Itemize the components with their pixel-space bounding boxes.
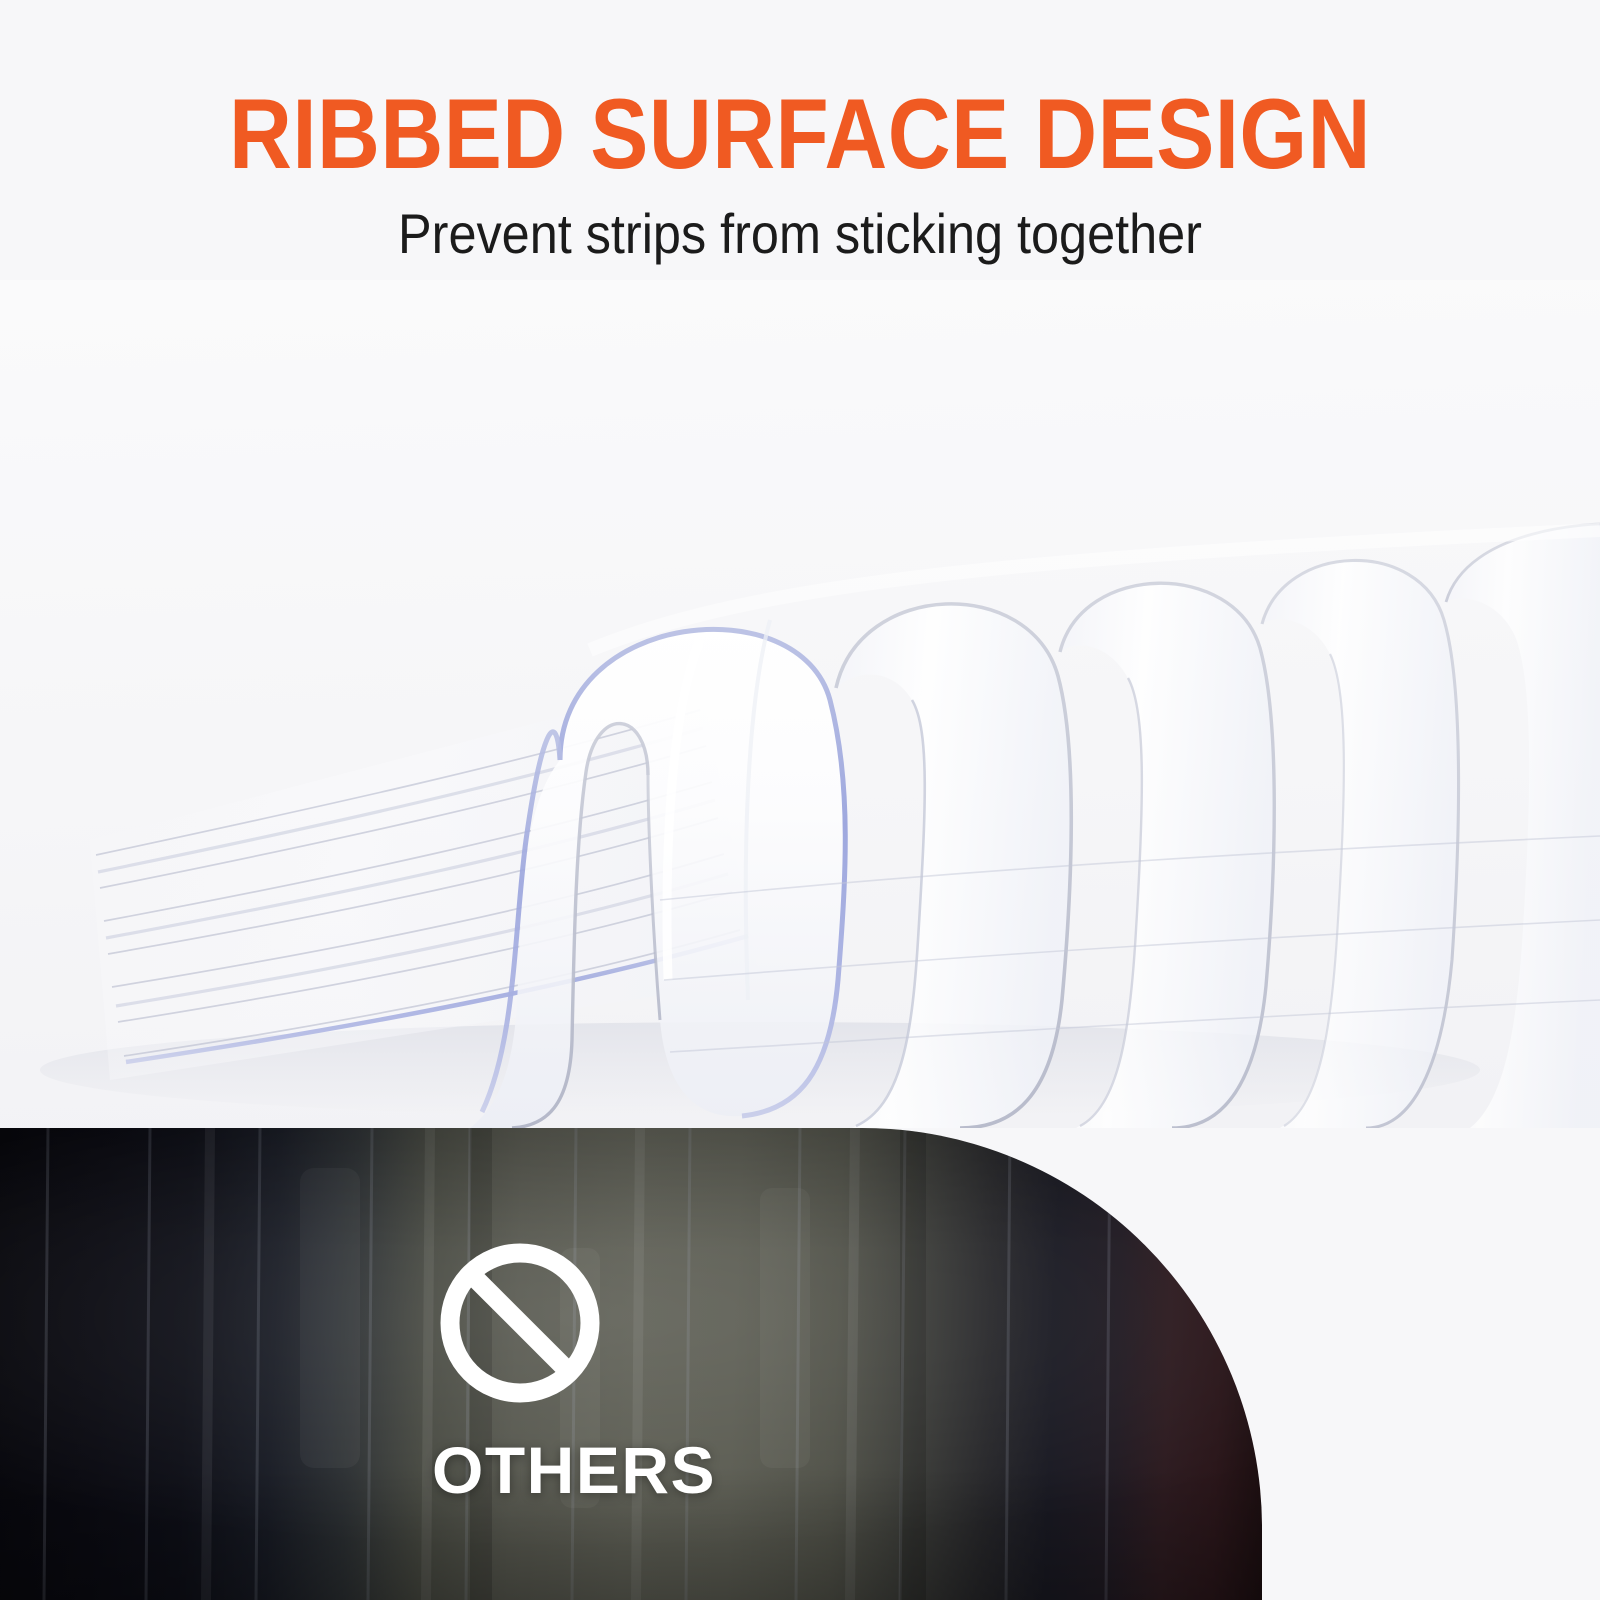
nested-strip-folds bbox=[836, 524, 1600, 1128]
prohibition-icon bbox=[432, 1235, 608, 1411]
page-subtitle: Prevent strips from sticking together bbox=[80, 206, 1520, 262]
others-label: OTHERS bbox=[432, 1437, 852, 1503]
pvc-strip-curtain-illustration bbox=[0, 280, 1600, 1128]
product-feature-image: RIBBED SURFACE DESIGN Prevent strips fro… bbox=[0, 0, 1600, 1600]
page-title: RIBBED SURFACE DESIGN bbox=[96, 84, 1504, 183]
others-badge-block: OTHERS bbox=[432, 1235, 852, 1503]
hero-product-photo bbox=[0, 280, 1600, 1128]
